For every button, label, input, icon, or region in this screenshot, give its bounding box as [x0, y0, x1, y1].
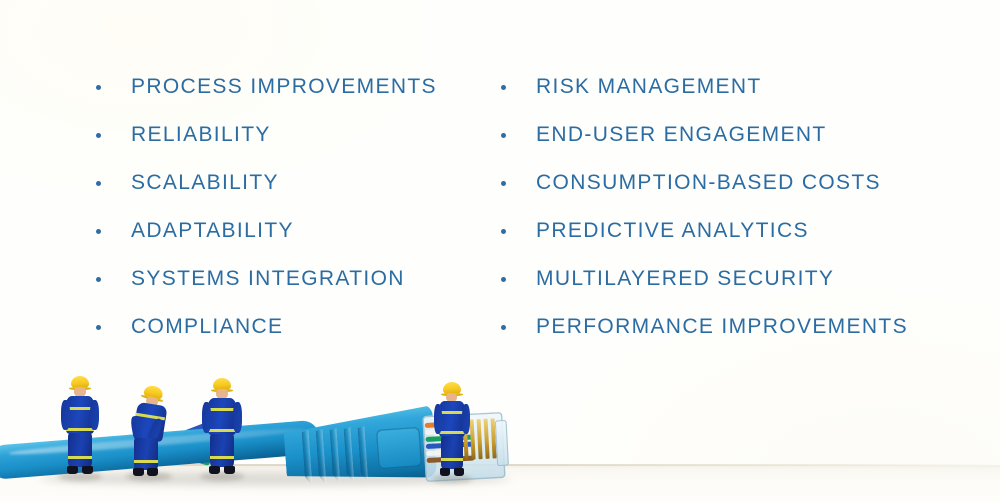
worker-figurine-bending-center [126, 384, 172, 476]
list-item-label: SYSTEMS INTEGRATION [131, 268, 405, 289]
bullet-dot-icon [501, 133, 506, 138]
figure-arm [202, 402, 211, 433]
list-item-label: PREDICTIVE ANALYTICS [536, 220, 809, 241]
figure-boot [82, 466, 93, 474]
bullet-dot-icon [96, 277, 101, 282]
list-item[interactable]: PROCESS IMPROVEMENTS [96, 62, 437, 110]
list-item[interactable]: RELIABILITY [96, 110, 437, 158]
figure-boot [133, 468, 144, 476]
rj45-latch-tab [495, 420, 509, 467]
figure-arm [233, 402, 242, 433]
figure-arm [434, 404, 442, 434]
cable-strain-relief-boot [282, 404, 437, 488]
figure-boot [224, 466, 235, 474]
figure-boot [147, 468, 158, 476]
list-item[interactable]: MULTILAYERED SECURITY [501, 254, 908, 302]
figure-arm [61, 400, 70, 430]
figure-legs [210, 434, 234, 467]
ethernet-cable-photo [0, 352, 1000, 502]
figure-boot [454, 468, 464, 476]
figure-legs [134, 438, 158, 470]
figure-boot [440, 468, 450, 476]
hi-vis-stripe [68, 456, 92, 459]
benefits-column-left: PROCESS IMPROVEMENTS RELIABILITY SCALABI… [96, 62, 437, 350]
worker-figurine-standing-right [200, 378, 244, 476]
bullet-dot-icon [501, 85, 506, 90]
hi-vis-stripe [134, 460, 158, 463]
list-item-label: MULTILAYERED SECURITY [536, 268, 834, 289]
list-item[interactable]: END-USER ENGAGEMENT [501, 110, 908, 158]
list-item-label: SCALABILITY [131, 172, 279, 193]
figure-legs [441, 436, 463, 469]
list-item[interactable]: ADAPTABILITY [96, 206, 437, 254]
figure-shadow [58, 472, 102, 481]
list-item-label: RISK MANAGEMENT [536, 76, 762, 97]
figure-boot [209, 466, 220, 474]
list-item-label: ADAPTABILITY [131, 220, 294, 241]
bullet-dot-icon [501, 181, 506, 186]
boot-face-plate [376, 427, 423, 470]
figure-shadow [200, 472, 244, 481]
list-item[interactable]: SYSTEMS INTEGRATION [96, 254, 437, 302]
bullet-dot-icon [96, 133, 101, 138]
worker-figurine-at-connector [432, 382, 472, 478]
list-item-label: COMPLIANCE [131, 316, 283, 337]
hi-vis-stripe [208, 429, 236, 432]
list-item-label: PERFORMANCE IMPROVEMENTS [536, 316, 908, 337]
benefits-list-group: PROCESS IMPROVEMENTS RELIABILITY SCALABI… [0, 0, 1000, 360]
bullet-dot-icon [96, 85, 101, 90]
bullet-dot-icon [96, 229, 101, 234]
list-item[interactable]: PERFORMANCE IMPROVEMENTS [501, 302, 908, 350]
list-item-label: END-USER ENGAGEMENT [536, 124, 827, 145]
list-item-label: RELIABILITY [131, 124, 271, 145]
figure-boot [67, 466, 78, 474]
list-item[interactable]: CONSUMPTION-BASED COSTS [501, 158, 908, 206]
bullet-dot-icon [501, 277, 506, 282]
list-item[interactable]: COMPLIANCE [96, 302, 437, 350]
figure-shadow [432, 475, 472, 483]
benefits-column-right: RISK MANAGEMENT END-USER ENGAGEMENT CONS… [501, 62, 908, 350]
hi-vis-stripe [208, 408, 236, 411]
figure-arm [462, 404, 470, 434]
hi-vis-stripe [66, 428, 94, 431]
bullet-dot-icon [501, 325, 506, 330]
hi-vis-stripe [210, 456, 234, 459]
bullet-dot-icon [96, 325, 101, 330]
figure-arm [90, 400, 99, 430]
bullet-dot-icon [501, 229, 506, 234]
list-item[interactable]: SCALABILITY [96, 158, 437, 206]
hi-vis-stripe [439, 431, 465, 434]
worker-figurine-standing-left [58, 376, 102, 476]
figure-legs [68, 433, 92, 467]
hi-vis-stripe [441, 458, 463, 461]
list-item[interactable]: RISK MANAGEMENT [501, 62, 908, 110]
list-item-label: PROCESS IMPROVEMENTS [131, 76, 437, 97]
slide-canvas: PROCESS IMPROVEMENTS RELIABILITY SCALABI… [0, 0, 1000, 502]
list-item[interactable]: PREDICTIVE ANALYTICS [501, 206, 908, 254]
bullet-dot-icon [96, 181, 101, 186]
list-item-label: CONSUMPTION-BASED COSTS [536, 172, 881, 193]
